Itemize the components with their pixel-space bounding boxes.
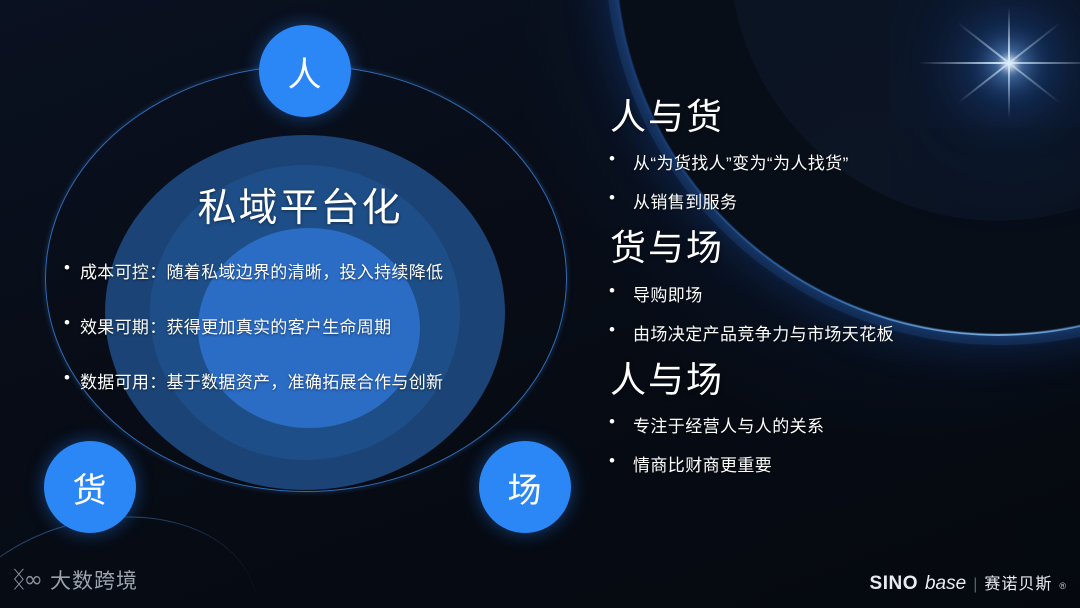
sinobase-logo-separator: | xyxy=(973,576,977,594)
section-goods-place: 货与场 • 导购即场 • 由场决定产品竞争力与市场天花板 xyxy=(605,227,1065,344)
section-bullet-text: 由场决定产品竞争力与市场天花板 xyxy=(633,320,894,345)
bullet-dot-icon: • xyxy=(64,368,80,388)
section-bullet-item: • 从“为货找人”变为“为人找货” xyxy=(609,149,1065,174)
section-bullet-item: • 情商比财商更重要 xyxy=(609,451,1065,476)
venn-diagram: 私域平台化 • 成本可控：随着私域边界的清晰，投入持续降低 • 效果可期：获得更… xyxy=(0,0,600,608)
section-heading: 货与场 xyxy=(610,227,1065,268)
sinobase-logo-base: base xyxy=(925,573,966,595)
dashu-logo-text: 大数跨境 xyxy=(50,565,138,595)
section-heading: 人与场 xyxy=(610,359,1065,400)
section-people-place: 人与场 • 专注于经营人与人的关系 • 情商比财商更重要 xyxy=(605,359,1065,476)
venn-bullet-item: • 效果可期：获得更加真实的客户生命周期 xyxy=(64,313,554,338)
bullet-dot-icon: • xyxy=(64,258,80,278)
section-bullet-text: 从销售到服务 xyxy=(633,188,737,213)
bullet-dot-icon: • xyxy=(609,412,633,432)
content-column: 人与货 • 从“为货找人”变为“为人找货” • 从销售到服务 货与场 • 导购即… xyxy=(605,96,1065,490)
venn-bullet-item: • 数据可用：基于数据资产，准确拓展合作与创新 xyxy=(64,368,554,393)
venn-bullet-text: 效果可期：获得更加真实的客户生命周期 xyxy=(80,313,391,338)
section-bullet-text: 导购即场 xyxy=(633,281,703,306)
logo-dashukuajing: ᛝ∞ 大数跨境 xyxy=(12,565,138,595)
bullet-dot-icon: • xyxy=(609,149,633,169)
section-bullet-text: 从“为货找人”变为“为人找货” xyxy=(633,149,849,174)
bullet-dot-icon: • xyxy=(609,451,633,471)
slide-canvas: 私域平台化 • 成本可控：随着私域边界的清晰，投入持续降低 • 效果可期：获得更… xyxy=(0,0,1080,608)
sinobase-logo-chinese: 赛诺贝斯 xyxy=(984,570,1052,594)
venn-bullet-text: 成本可控：随着私域边界的清晰，投入持续降低 xyxy=(80,258,443,283)
section-bullet-item: • 从销售到服务 xyxy=(609,188,1065,213)
bullet-dot-icon: • xyxy=(609,320,633,340)
section-bullet-text: 情商比财商更重要 xyxy=(633,451,772,476)
venn-title: 私域平台化 xyxy=(0,177,600,233)
bullet-dot-icon: • xyxy=(609,188,633,208)
node-goods: 货 xyxy=(44,441,136,533)
registered-trademark-icon: ® xyxy=(1059,581,1066,591)
section-heading: 人与货 xyxy=(610,96,1065,137)
venn-bullet-item: • 成本可控：随着私域边界的清晰，投入持续降低 xyxy=(64,258,554,283)
section-people-goods: 人与货 • 从“为货找人”变为“为人找货” • 从销售到服务 xyxy=(605,96,1065,213)
node-people: 人 xyxy=(259,25,351,117)
logo-sinobase: SINO base | 赛诺贝斯 ® xyxy=(870,570,1066,595)
section-bullet-item: • 由场决定产品竞争力与市场天花板 xyxy=(609,320,1065,345)
bullet-dot-icon: • xyxy=(609,281,633,301)
venn-bullet-list: • 成本可控：随着私域边界的清晰，投入持续降低 • 效果可期：获得更加真实的客户… xyxy=(64,258,554,393)
node-place: 场 xyxy=(479,441,571,533)
section-bullet-text: 专注于经营人与人的关系 xyxy=(633,412,824,437)
section-bullet-item: • 专注于经营人与人的关系 xyxy=(609,412,1065,437)
sun-flare-icon xyxy=(1008,62,1011,65)
dashu-logo-mark-icon: ᛝ∞ xyxy=(12,567,41,593)
venn-bullet-text: 数据可用：基于数据资产，准确拓展合作与创新 xyxy=(80,368,443,393)
sinobase-logo-sino: SINO xyxy=(870,573,918,595)
section-bullet-item: • 导购即场 xyxy=(609,281,1065,306)
bullet-dot-icon: • xyxy=(64,313,80,333)
